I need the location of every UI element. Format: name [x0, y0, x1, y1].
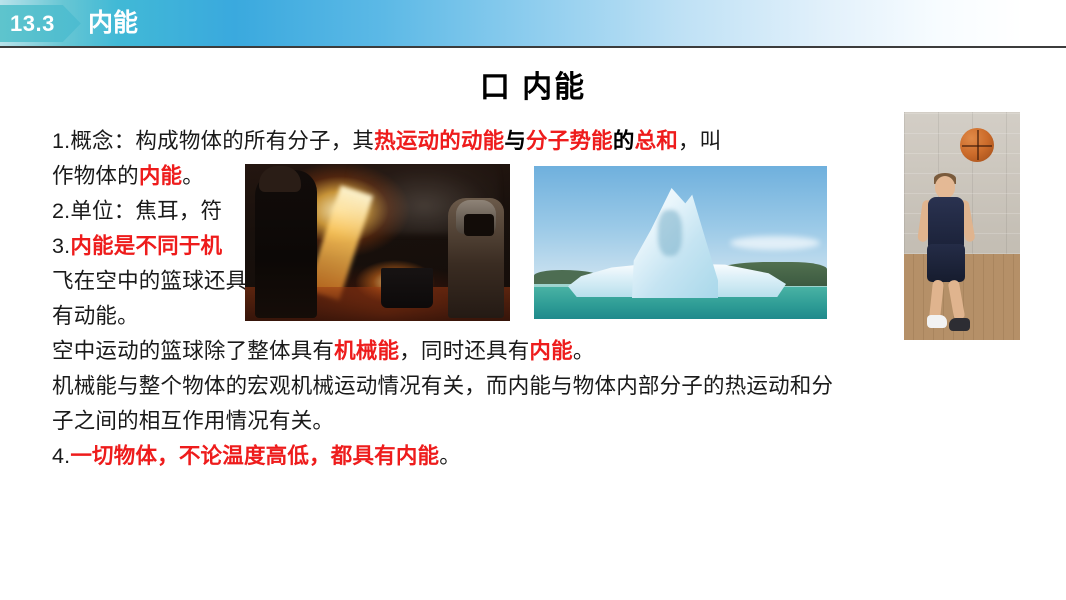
line-1: 1.概念：构成物体的所有分子，其热运动的动能与分子势能的总和，叫 [52, 124, 892, 159]
header-title: 内能 [88, 6, 138, 41]
text-run: 内能是不同于机 [70, 234, 222, 258]
text-run: 3. [52, 234, 70, 258]
foundry-helmet-left [259, 166, 301, 192]
header-divider-rule [0, 46, 1066, 48]
basketball-ball-icon [960, 128, 994, 162]
text-run: 空中运动的篮球除了整体具有 [52, 339, 334, 363]
text-run: 机械能与整个物体的宏观机械运动情况有关，而内能与物体内部分子的热运动和分 [52, 374, 833, 398]
basketball-player-shoe-left [927, 315, 947, 328]
text-run: 。 [439, 444, 461, 468]
text-run: 有动能。 [52, 304, 139, 328]
text-run: ，叫 [678, 129, 721, 153]
line-9: 子之间的相互作用情况有关。 [52, 404, 892, 439]
slide-header-bar [0, 0, 1066, 46]
line-8: 机械能与整个物体的宏观机械运动情况有关，而内能与物体内部分子的热运动和分 [52, 369, 892, 404]
basketball-player-head [935, 176, 955, 198]
text-run: 1.概念：构成物体的所有分子，其 [52, 129, 374, 153]
iceberg-photo [534, 166, 827, 319]
square-bullet-icon: 口 [480, 71, 512, 104]
basketball-player-shorts [927, 244, 965, 282]
text-run: 飞在空中的篮球 [52, 269, 204, 293]
text-run: 总和 [635, 129, 678, 153]
text-run: ，同时还具有 [399, 339, 529, 363]
line-7: 空中运动的篮球除了整体具有机械能，同时还具有内能。 [52, 334, 892, 369]
text-run: 还具 [204, 269, 247, 293]
text-run: 内能 [529, 339, 572, 363]
line-10: 4.一切物体，不论温度高低，都具有内能。 [52, 439, 892, 474]
chapter-number-label: 13.3 [10, 13, 55, 35]
text-run: 。 [182, 164, 204, 188]
basketball-player-shoe-right [949, 318, 970, 331]
text-run: 。 [573, 339, 595, 363]
foundry-worker-left [255, 170, 317, 318]
iceberg-cloud [730, 236, 820, 250]
iceberg-crevasse-shadow [658, 210, 682, 256]
page-title-text: 内能 [522, 71, 586, 104]
text-run: 内能 [139, 164, 182, 188]
text-run: 作物体的 [52, 164, 139, 188]
foundry-molten-metal-photo [245, 164, 510, 321]
text-run: 一切物体，不论温度高低，都具有内能 [70, 444, 439, 468]
text-run: 分子势能 [526, 129, 613, 153]
page-title: 口 内能 [0, 62, 1066, 106]
text-run: 热运动的动能 [374, 129, 504, 153]
text-run: 机械能 [334, 339, 399, 363]
basketball-player-jersey [928, 197, 964, 249]
text-run: 2.单位：焦耳，符 [52, 199, 222, 223]
text-run: 子之间的相互作用情况有关。 [52, 409, 334, 433]
text-run: 的 [613, 129, 635, 153]
text-run: 4. [52, 444, 70, 468]
text-run: 与 [504, 129, 526, 153]
foundry-ladle [381, 268, 433, 308]
foundry-visor-right [464, 214, 494, 236]
basketball-player-photo [904, 112, 1020, 340]
